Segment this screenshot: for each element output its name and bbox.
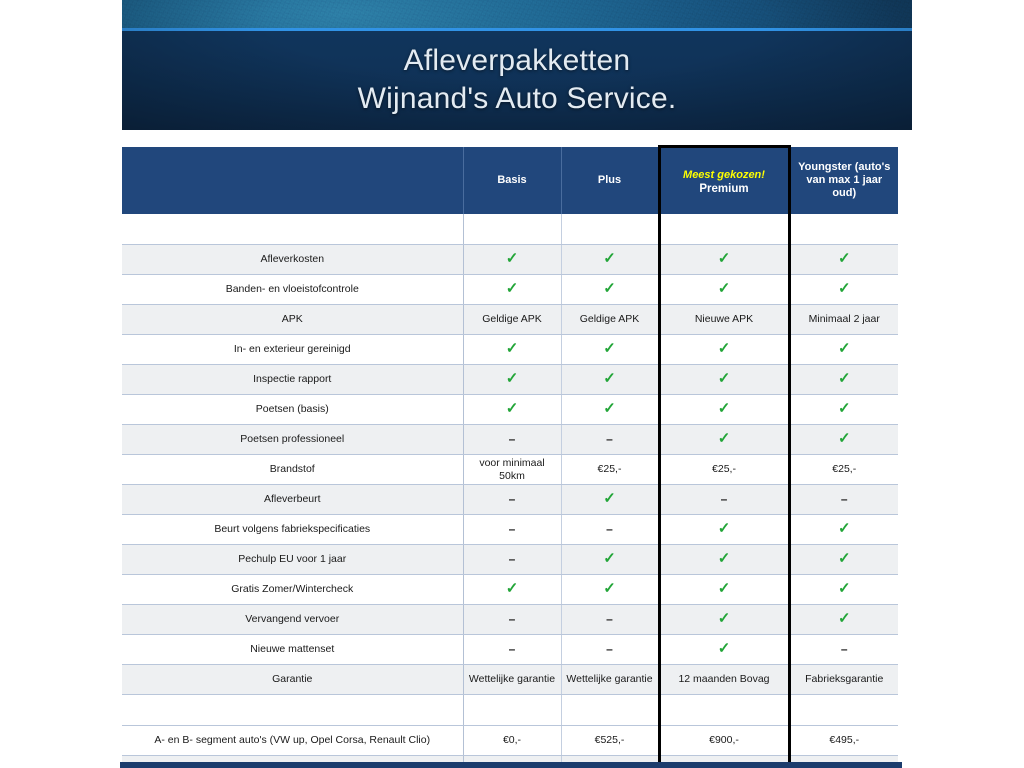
check-icon: ✓ <box>718 642 731 655</box>
table-row: Nieuwe mattenset––✓– <box>122 635 898 665</box>
row-feature-label: Garantie <box>122 665 463 695</box>
cell-basis: – <box>463 635 561 665</box>
check-icon: ✓ <box>718 282 731 295</box>
cell-premium: ✓ <box>659 335 789 365</box>
cell-plus: ✓ <box>561 335 659 365</box>
check-icon: ✓ <box>506 282 519 295</box>
row-feature-label: Beurt volgens fabriekspecificaties <box>122 515 463 545</box>
header-banner: Afleverpakketten Wijnand's Auto Service. <box>122 0 912 130</box>
cell-youngster <box>789 214 898 245</box>
cell-youngster: ✓ <box>789 365 898 395</box>
table-row: APKGeldige APKGeldige APKNieuwe APKMinim… <box>122 305 898 335</box>
check-icon: ✓ <box>718 522 731 535</box>
dash-icon: – <box>606 613 613 626</box>
check-icon: ✓ <box>718 552 731 565</box>
cell-youngster: Minimaal 2 jaar <box>789 305 898 335</box>
cell-basis <box>463 695 561 726</box>
table-row: In- en exterieur gereinigd✓✓✓✓ <box>122 335 898 365</box>
check-icon: ✓ <box>718 432 731 445</box>
column-header-feature <box>122 147 463 215</box>
cell-youngster: – <box>789 635 898 665</box>
cell-youngster: €25,- <box>789 455 898 485</box>
dash-icon: – <box>509 433 516 446</box>
dash-icon: – <box>606 433 613 446</box>
cell-plus: – <box>561 635 659 665</box>
cell-plus: ✓ <box>561 545 659 575</box>
cell-premium: Nieuwe APK <box>659 305 789 335</box>
check-icon: ✓ <box>506 372 519 385</box>
row-feature-label: Pechulp EU voor 1 jaar <box>122 545 463 575</box>
row-feature-label <box>122 214 463 245</box>
cell-basis: Geldige APK <box>463 305 561 335</box>
cell-youngster: ✓ <box>789 575 898 605</box>
table-row: Banden- en vloeistofcontrole✓✓✓✓ <box>122 275 898 305</box>
cell-premium: – <box>659 485 789 515</box>
check-icon: ✓ <box>838 372 851 385</box>
check-icon: ✓ <box>838 252 851 265</box>
table-header-row: Basis Plus Meest gekozen! Premium Youngs… <box>122 147 898 215</box>
table-row: Poetsen professioneel––✓✓ <box>122 425 898 455</box>
cell-plus: ✓ <box>561 275 659 305</box>
banner-title: Afleverpakketten Wijnand's Auto Service. <box>122 42 912 118</box>
cell-plus: €25,- <box>561 455 659 485</box>
row-feature-label: Vervangend vervoer <box>122 605 463 635</box>
table-row: Afleverkosten✓✓✓✓ <box>122 245 898 275</box>
cell-plus: ✓ <box>561 575 659 605</box>
row-feature-label: Banden- en vloeistofcontrole <box>122 275 463 305</box>
cell-basis: – <box>463 605 561 635</box>
check-icon: ✓ <box>718 252 731 265</box>
check-icon: ✓ <box>838 582 851 595</box>
row-feature-label: Gratis Zomer/Wintercheck <box>122 575 463 605</box>
cell-basis: ✓ <box>463 575 561 605</box>
cell-premium: ✓ <box>659 365 789 395</box>
cell-premium: ✓ <box>659 545 789 575</box>
cell-basis: – <box>463 515 561 545</box>
cell-basis: voor minimaal 50km <box>463 455 561 485</box>
cell-premium: ✓ <box>659 575 789 605</box>
table-row: Vervangend vervoer––✓✓ <box>122 605 898 635</box>
check-icon: ✓ <box>506 342 519 355</box>
check-icon: ✓ <box>506 402 519 415</box>
check-icon: ✓ <box>506 582 519 595</box>
cell-basis: ✓ <box>463 365 561 395</box>
table-spacer-row <box>122 695 898 726</box>
column-header-plus[interactable]: Plus <box>561 147 659 215</box>
dash-icon: – <box>841 493 848 506</box>
cell-youngster: €495,- <box>789 726 898 756</box>
check-icon: ✓ <box>838 612 851 625</box>
cell-premium <box>659 214 789 245</box>
row-feature-label: Poetsen professioneel <box>122 425 463 455</box>
cell-premium: €900,- <box>659 726 789 756</box>
check-icon: ✓ <box>603 582 616 595</box>
cell-premium: €25,- <box>659 455 789 485</box>
cell-youngster: – <box>789 485 898 515</box>
cell-youngster: ✓ <box>789 605 898 635</box>
cell-plus: ✓ <box>561 395 659 425</box>
cell-basis: – <box>463 425 561 455</box>
cell-youngster: ✓ <box>789 275 898 305</box>
cell-plus: Wettelijke garantie <box>561 665 659 695</box>
column-header-premium-label: Premium <box>665 183 784 196</box>
cell-basis: ✓ <box>463 335 561 365</box>
check-icon: ✓ <box>603 342 616 355</box>
cell-plus: – <box>561 605 659 635</box>
row-feature-label: Nieuwe mattenset <box>122 635 463 665</box>
row-feature-label: Brandstof <box>122 455 463 485</box>
bottom-accent-bar <box>120 762 902 768</box>
table-row: Afleverbeurt–✓–– <box>122 485 898 515</box>
check-icon: ✓ <box>718 612 731 625</box>
cell-plus: ✓ <box>561 485 659 515</box>
cell-plus: – <box>561 515 659 545</box>
check-icon: ✓ <box>718 342 731 355</box>
cell-basis: – <box>463 545 561 575</box>
cell-youngster: ✓ <box>789 545 898 575</box>
column-header-premium[interactable]: Meest gekozen! Premium <box>659 147 789 215</box>
dash-icon: – <box>509 643 516 656</box>
check-icon: ✓ <box>718 582 731 595</box>
cell-premium: ✓ <box>659 635 789 665</box>
cell-premium: ✓ <box>659 395 789 425</box>
banner-title-line2: Wijnand's Auto Service. <box>122 80 912 118</box>
table-row: Beurt volgens fabriekspecificaties––✓✓ <box>122 515 898 545</box>
check-icon: ✓ <box>603 492 616 505</box>
row-feature-label: A- en B- segment auto's (VW up, Opel Cor… <box>122 726 463 756</box>
cell-basis: ✓ <box>463 395 561 425</box>
dash-icon: – <box>509 493 516 506</box>
row-feature-label: Afleverbeurt <box>122 485 463 515</box>
check-icon: ✓ <box>838 552 851 565</box>
check-icon: ✓ <box>718 402 731 415</box>
cell-youngster <box>789 695 898 726</box>
cell-premium: ✓ <box>659 425 789 455</box>
check-icon: ✓ <box>718 372 731 385</box>
dash-icon: – <box>509 523 516 536</box>
check-icon: ✓ <box>506 252 519 265</box>
check-icon: ✓ <box>838 282 851 295</box>
dash-icon: – <box>721 493 728 506</box>
page-root: Afleverpakketten Wijnand's Auto Service.… <box>0 0 1024 768</box>
check-icon: ✓ <box>603 402 616 415</box>
table-row: Pechulp EU voor 1 jaar–✓✓✓ <box>122 545 898 575</box>
check-icon: ✓ <box>838 402 851 415</box>
column-header-youngster[interactable]: Youngster (auto's van max 1 jaar oud) <box>789 147 898 215</box>
check-icon: ✓ <box>838 342 851 355</box>
package-comparison-table: Basis Plus Meest gekozen! Premium Youngs… <box>122 145 898 768</box>
row-feature-label: In- en exterieur gereinigd <box>122 335 463 365</box>
cell-premium: ✓ <box>659 245 789 275</box>
table-spacer-row <box>122 214 898 245</box>
cell-plus: €525,- <box>561 726 659 756</box>
check-icon: ✓ <box>838 432 851 445</box>
dash-icon: – <box>509 553 516 566</box>
cell-basis: €0,- <box>463 726 561 756</box>
row-feature-label <box>122 695 463 726</box>
dash-icon: – <box>841 643 848 656</box>
cell-youngster: ✓ <box>789 425 898 455</box>
cell-premium: 12 maanden Bovag <box>659 665 789 695</box>
cell-youngster: ✓ <box>789 515 898 545</box>
check-icon: ✓ <box>603 372 616 385</box>
column-header-basis[interactable]: Basis <box>463 147 561 215</box>
dash-icon: – <box>606 643 613 656</box>
cell-plus: ✓ <box>561 245 659 275</box>
banner-title-line1: Afleverpakketten <box>404 44 631 77</box>
check-icon: ✓ <box>603 252 616 265</box>
row-feature-label: Afleverkosten <box>122 245 463 275</box>
table-row: Brandstofvoor minimaal 50km€25,-€25,-€25… <box>122 455 898 485</box>
cell-plus <box>561 214 659 245</box>
table-row: Gratis Zomer/Wintercheck✓✓✓✓ <box>122 575 898 605</box>
cell-plus: – <box>561 425 659 455</box>
row-feature-label: Inspectie rapport <box>122 365 463 395</box>
table-header: Basis Plus Meest gekozen! Premium Youngs… <box>122 147 898 215</box>
table-row: Inspectie rapport✓✓✓✓ <box>122 365 898 395</box>
table-row: A- en B- segment auto's (VW up, Opel Cor… <box>122 726 898 756</box>
cell-basis: Wettelijke garantie <box>463 665 561 695</box>
cell-youngster: ✓ <box>789 245 898 275</box>
table-row: Poetsen (basis)✓✓✓✓ <box>122 395 898 425</box>
check-icon: ✓ <box>603 552 616 565</box>
cell-youngster: ✓ <box>789 335 898 365</box>
dash-icon: – <box>509 613 516 626</box>
cell-basis: ✓ <box>463 245 561 275</box>
cell-premium <box>659 695 789 726</box>
row-feature-label: Poetsen (basis) <box>122 395 463 425</box>
row-feature-label: APK <box>122 305 463 335</box>
cell-premium: ✓ <box>659 605 789 635</box>
check-icon: ✓ <box>603 282 616 295</box>
cell-youngster: Fabrieksgarantie <box>789 665 898 695</box>
table-body: Afleverkosten✓✓✓✓Banden- en vloeistofcon… <box>122 214 898 768</box>
cell-premium: ✓ <box>659 515 789 545</box>
package-comparison-table-wrapper: Basis Plus Meest gekozen! Premium Youngs… <box>122 145 898 768</box>
check-icon: ✓ <box>838 522 851 535</box>
cell-plus: Geldige APK <box>561 305 659 335</box>
cell-premium: ✓ <box>659 275 789 305</box>
cell-plus <box>561 695 659 726</box>
dash-icon: – <box>606 523 613 536</box>
most-chosen-badge: Meest gekozen! <box>665 169 784 182</box>
cell-basis: – <box>463 485 561 515</box>
cell-basis: ✓ <box>463 275 561 305</box>
table-row: GarantieWettelijke garantieWettelijke ga… <box>122 665 898 695</box>
cell-plus: ✓ <box>561 365 659 395</box>
cell-youngster: ✓ <box>789 395 898 425</box>
cell-basis <box>463 214 561 245</box>
